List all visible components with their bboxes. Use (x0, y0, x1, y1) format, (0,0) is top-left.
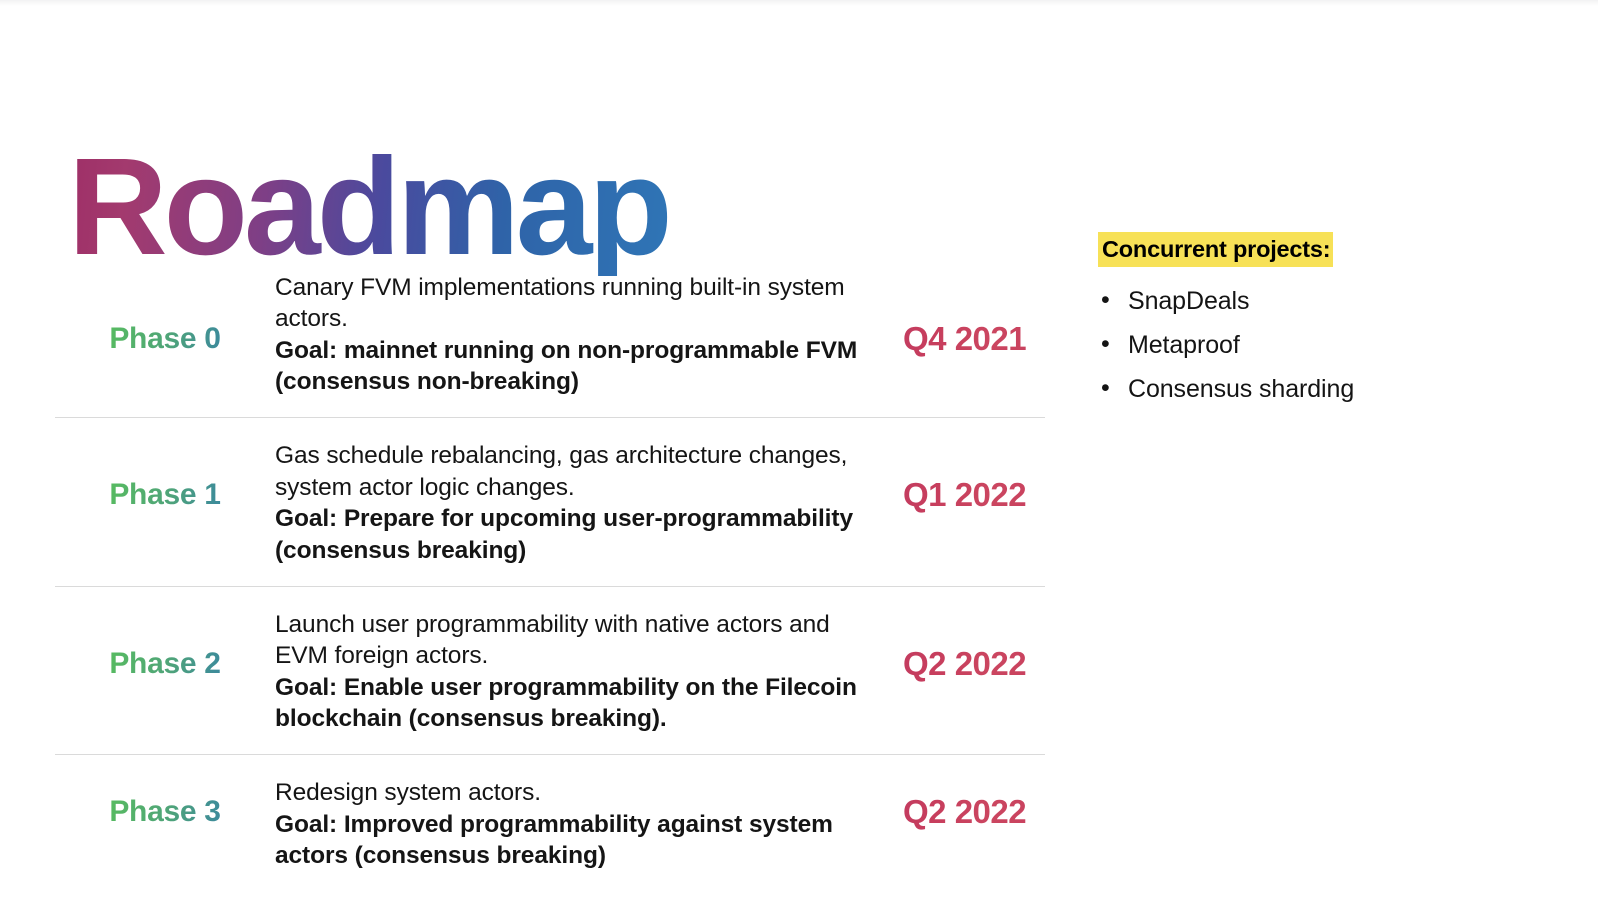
list-item: • Metaproof (1098, 333, 1528, 358)
phase-description-2: Launch user programmability with native … (275, 609, 865, 734)
phase-date-0: Q4 2021 (865, 320, 1045, 358)
list-item-label: Metaproof (1128, 331, 1240, 359)
table-row: Phase 2 Launch user programmability with… (55, 587, 1045, 755)
table-row: Phase 3 Redesign system actors. Goal: Im… (55, 755, 1045, 883)
phase-goal-text-1: Goal: Prepare for upcoming user-programm… (275, 505, 853, 563)
phase-goal-text-2: Goal: Enable user programmability on the… (275, 674, 857, 732)
phase-description-text-1: Gas schedule rebalancing, gas architectu… (275, 442, 847, 500)
phase-description-3: Redesign system actors. Goal: Improved p… (275, 777, 865, 871)
phase-description-text-3: Redesign system actors. (275, 779, 541, 806)
phase-label-2: Phase 2 (55, 647, 275, 681)
table-row: Phase 1 Gas schedule rebalancing, gas ar… (55, 418, 1045, 586)
phase-description-0: Canary FVM implementations running built… (275, 272, 865, 397)
phase-goal-text-3: Goal: Improved programmability against s… (275, 811, 833, 869)
list-item: • Consensus sharding (1098, 377, 1528, 402)
concurrent-projects-list: • SnapDeals • Metaproof • Consensus shar… (1098, 289, 1528, 402)
list-item: • SnapDeals (1098, 289, 1528, 314)
phase-label-0: Phase 0 (55, 322, 275, 356)
bullet-icon: • (1101, 288, 1110, 313)
bullet-icon: • (1101, 376, 1110, 401)
phase-description-1: Gas schedule rebalancing, gas architectu… (275, 440, 865, 565)
phase-date-2: Q2 2022 (865, 645, 1045, 683)
top-edge-band (0, 0, 1598, 6)
phase-description-text-0: Canary FVM implementations running built… (275, 274, 845, 332)
table-row: Phase 0 Canary FVM implementations runni… (55, 264, 1045, 418)
roadmap-table: Phase 0 Canary FVM implementations runni… (55, 264, 1045, 883)
phase-goal-text-0: Goal: mainnet running on non-programmabl… (275, 337, 857, 395)
phase-date-3: Q2 2022 (865, 793, 1045, 831)
phase-label-3: Phase 3 (55, 795, 275, 829)
phase-date-1: Q1 2022 (865, 476, 1045, 514)
list-item-label: Consensus sharding (1128, 375, 1354, 403)
bullet-icon: • (1101, 332, 1110, 357)
concurrent-projects-panel: Concurrent projects: • SnapDeals • Metap… (1098, 232, 1528, 421)
page-title: Roadmap (68, 138, 669, 276)
phase-description-text-2: Launch user programmability with native … (275, 611, 830, 669)
phase-label-1: Phase 1 (55, 478, 275, 512)
concurrent-projects-heading: Concurrent projects: (1098, 232, 1333, 267)
list-item-label: SnapDeals (1128, 287, 1249, 315)
roadmap-slide: Roadmap Phase 0 Canary FVM implementatio… (0, 0, 1598, 898)
